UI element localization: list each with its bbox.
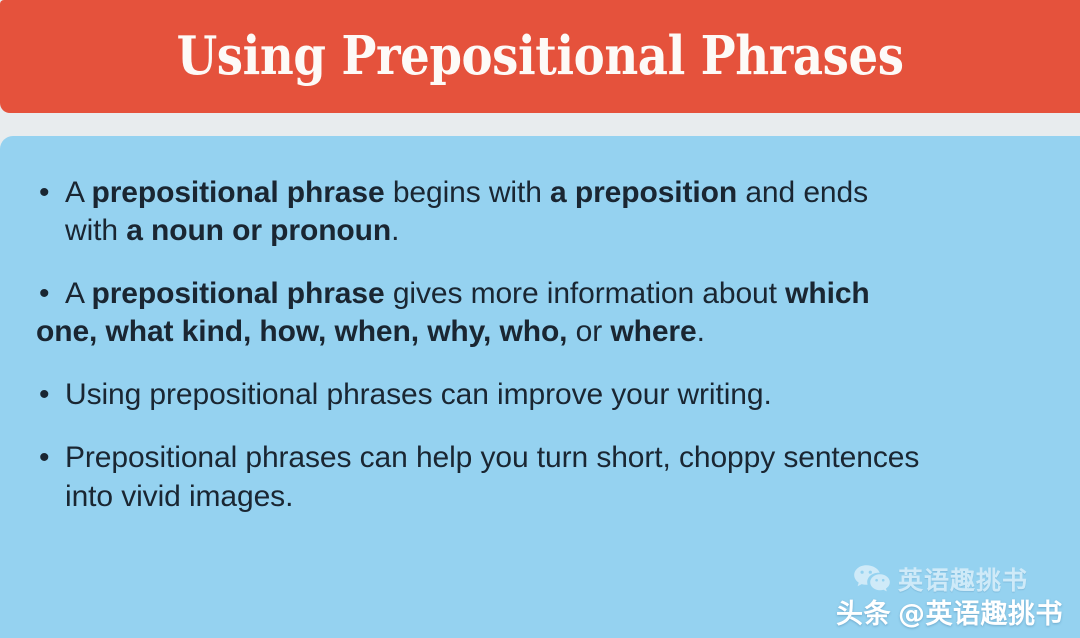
bullet-line: Prepositional phrases can help you turn … [65, 439, 1050, 477]
bullet-line: Using prepositional phrases can improve … [65, 376, 1050, 414]
bullet-text-emphasis: prepositional phrase [92, 176, 385, 209]
bullet-item: •Using prepositional phrases can improve… [36, 376, 1050, 414]
bullet-item: •A prepositional phrase begins with a pr… [36, 174, 1050, 250]
slide-canvas: Using Prepositional Phrases •A prepositi… [0, 0, 1080, 638]
bullet-text: into vivid images. [65, 480, 293, 513]
title-banner: Using Prepositional Phrases [0, 0, 1080, 113]
bullet-text-emphasis: a preposition [550, 176, 737, 209]
bullet-item: •Prepositional phrases can help you turn… [36, 439, 1050, 515]
bullet-marker-icon: • [39, 376, 49, 414]
bullet-text: . [697, 315, 705, 348]
bullet-line: with a noun or pronoun. [65, 212, 1050, 250]
bullet-text: A [65, 277, 92, 310]
bullet-text: A [65, 176, 92, 209]
bullet-text: with [65, 214, 126, 247]
bullet-text: gives more information about [385, 277, 786, 310]
bullet-text: begins with [385, 176, 550, 209]
bullet-text: and ends [737, 176, 868, 209]
bullet-text-emphasis: a noun or pronoun [126, 214, 391, 247]
bullet-item: •A prepositional phrase gives more infor… [36, 275, 1050, 351]
content-panel: •A prepositional phrase begins with a pr… [0, 136, 1080, 638]
bullet-text-emphasis: one, what kind, how, when, why, who, [36, 315, 567, 348]
bullet-marker-icon: • [39, 439, 49, 477]
bullet-list: •A prepositional phrase begins with a pr… [36, 174, 1050, 516]
page-title: Using Prepositional Phrases [177, 30, 904, 83]
bullet-line: A prepositional phrase gives more inform… [65, 275, 1050, 313]
bullet-text: Using prepositional phrases can improve … [65, 378, 772, 411]
bullet-text: . [391, 214, 399, 247]
bullet-text-emphasis: where [610, 315, 696, 348]
bullet-text: or [567, 315, 610, 348]
bullet-line: A prepositional phrase begins with a pre… [65, 174, 1050, 212]
bullet-text: Prepositional phrases can help you turn … [65, 441, 919, 474]
bullet-marker-icon: • [39, 174, 49, 212]
bullet-line: one, what kind, how, when, why, who, or … [36, 313, 1050, 351]
bullet-text-emphasis: which [785, 277, 870, 310]
bullet-text-emphasis: prepositional phrase [92, 277, 385, 310]
bullet-marker-icon: • [39, 275, 49, 313]
bullet-line: into vivid images. [65, 478, 1050, 516]
